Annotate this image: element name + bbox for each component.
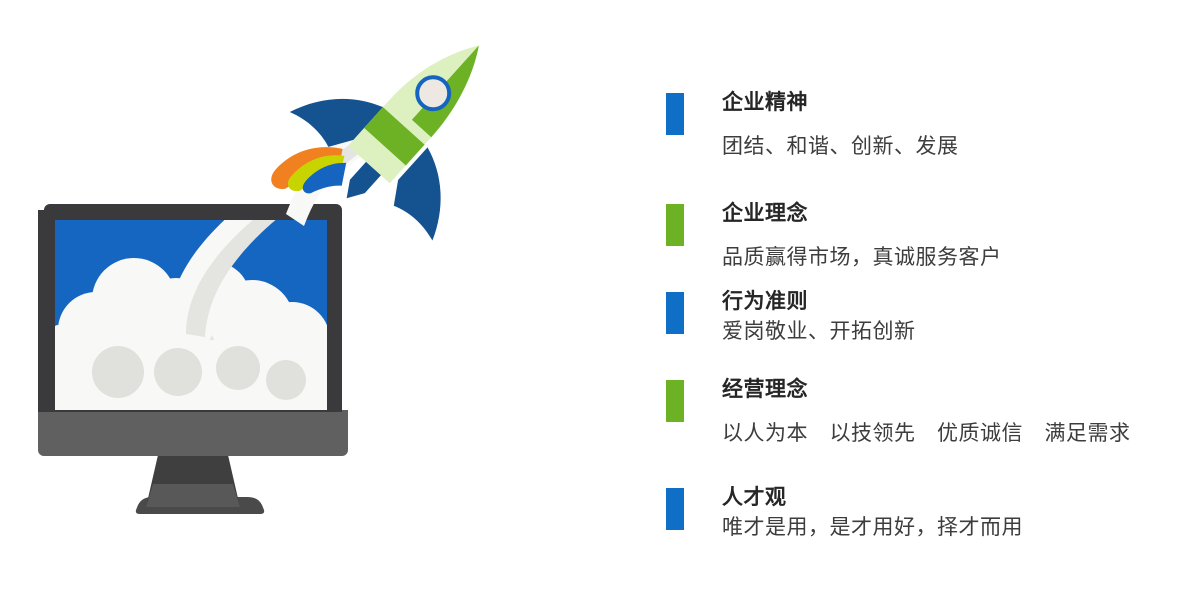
value-item-text: 企业精神 团结、和谐、创新、发展 — [722, 89, 1182, 161]
accent-bar-blue — [666, 292, 684, 334]
monitor-chin — [38, 410, 348, 456]
accent-bar-blue — [666, 93, 684, 135]
accent-bar-blue — [666, 488, 684, 530]
monitor-stand-group — [136, 455, 264, 514]
value-item-text: 行为准则 爱岗敬业、开拓创新 — [722, 288, 1182, 346]
value-item-body: 团结、和谐、创新、发展 — [722, 133, 1182, 161]
value-item-heading: 企业精神 — [722, 89, 1182, 117]
monitor-neck-highlight — [146, 484, 240, 507]
accent-bar-green — [666, 204, 684, 246]
value-item-text: 企业理念 品质赢得市场，真诚服务客户 — [722, 200, 1182, 272]
company-values-list: 企业精神 团结、和谐、创新、发展 企业理念 品质赢得市场，真诚服务客户 行为准则… — [666, 0, 1186, 606]
rocket-monitor-illustration — [0, 0, 620, 606]
value-item-text: 经营理念 以人为本 以技领先 优质诚信 满足需求 — [722, 376, 1182, 448]
value-item-heading: 行为准则 — [722, 288, 1182, 316]
value-item-text: 人才观 唯才是用，是才用好，择才而用 — [722, 484, 1182, 542]
value-item-heading: 经营理念 — [722, 376, 1182, 404]
value-item-body: 唯才是用，是才用好，择才而用 — [722, 514, 1182, 542]
value-item-body: 品质赢得市场，真诚服务客户 — [722, 244, 1182, 272]
value-item-body: 爱岗敬业、开拓创新 — [722, 318, 1182, 346]
value-item-heading: 人才观 — [722, 484, 1182, 512]
value-item-body: 以人为本 以技领先 优质诚信 满足需求 — [722, 420, 1182, 448]
accent-bar-green — [666, 380, 684, 422]
slide-canvas: 企业精神 团结、和谐、创新、发展 企业理念 品质赢得市场，真诚服务客户 行为准则… — [0, 0, 1197, 606]
value-item-heading: 企业理念 — [722, 200, 1182, 228]
